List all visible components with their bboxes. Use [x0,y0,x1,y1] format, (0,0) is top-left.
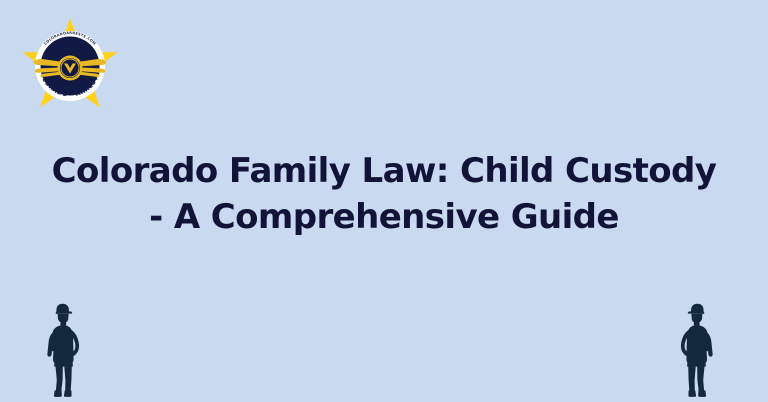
police-officer-silhouette-left [36,302,92,398]
colorado-arrest-badge-logo[interactable]: COLORADOARRESTS.COM COLORADO ARRESTS [20,16,120,116]
page-title-container: Colorado Family Law: Child Custody - A C… [0,148,768,240]
police-officer-silhouette-right [668,302,724,398]
page-title: Colorado Family Law: Child Custody - A C… [34,148,734,240]
article-header-banner: COLORADOARRESTS.COM COLORADO ARRESTS [0,0,768,402]
